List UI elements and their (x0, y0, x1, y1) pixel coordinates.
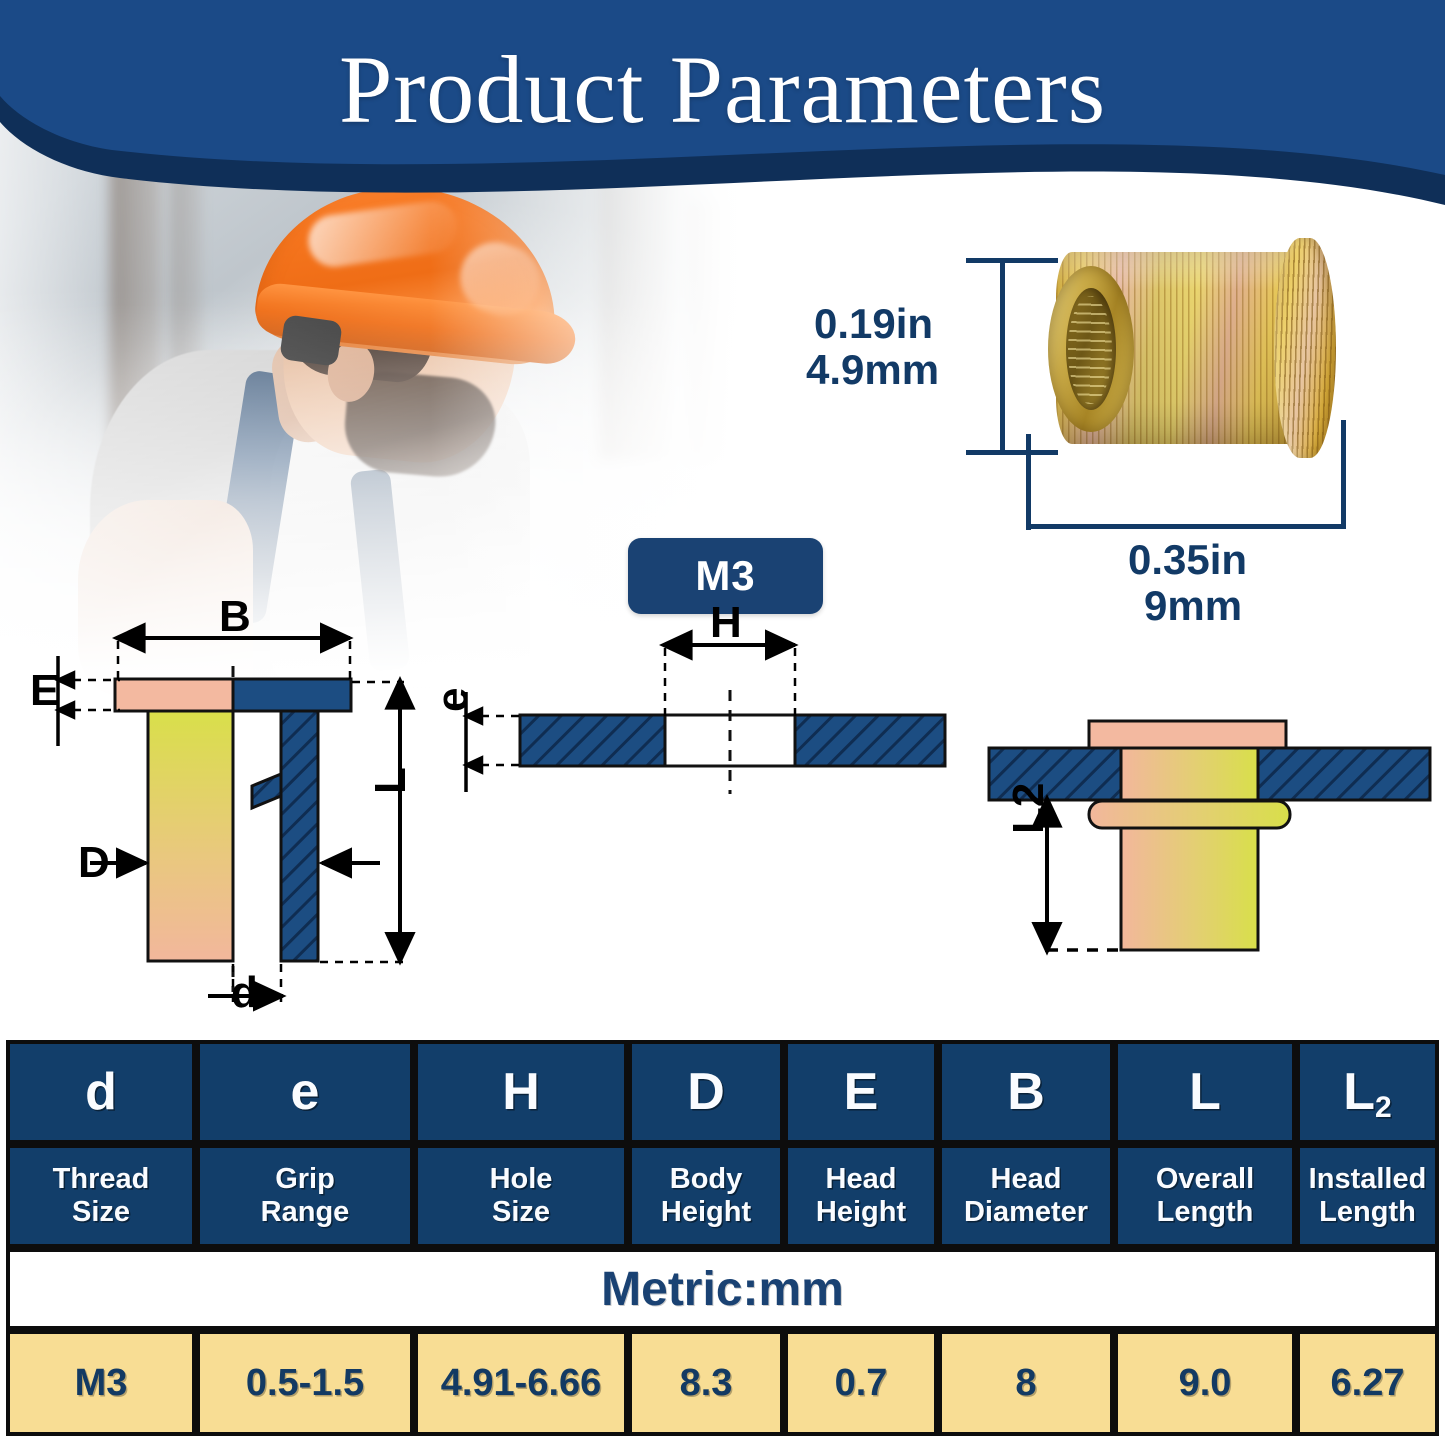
table-cell-installed-length: 6.27 (1296, 1330, 1439, 1436)
table-header-desc-installed-length: InstalledLength (1296, 1144, 1439, 1248)
header-banner: Product Parameters (0, 0, 1445, 230)
diagram-label-L: L (368, 767, 415, 794)
diagram-label-e: e (430, 688, 477, 712)
diagram-label-L2: L2 (1006, 783, 1053, 834)
table-cell-overall-length: 9.0 (1114, 1330, 1296, 1436)
table-header-desc-overall-length: OverallLength (1114, 1144, 1296, 1248)
desc-text: InstalledLength (1309, 1163, 1427, 1228)
table-header-desc-head-diameter: HeadDiameter (938, 1144, 1114, 1248)
desc-text: ThreadSize (53, 1163, 150, 1228)
table-header-desc-grip-range: GripRange (196, 1144, 414, 1248)
dim-corner-vertical (1026, 434, 1031, 530)
dim-extension-vertical (1000, 258, 1005, 455)
technical-diagrams: B E D L d H e L2 (0, 596, 1445, 1040)
table-row-descriptions: ThreadSize GripRange HoleSize BodyHeight… (6, 1144, 1439, 1248)
table-header-symbol-d: d (6, 1040, 196, 1144)
symbol-text: E (844, 1063, 879, 1121)
diagram-label-H: H (710, 600, 742, 647)
diagram-label-B: B (219, 594, 251, 641)
symbol-text: d (85, 1063, 117, 1121)
diagram-cross-section (58, 638, 404, 1002)
table-cell-head-height: 0.7 (784, 1330, 938, 1436)
symbol-subscript: 2 (1375, 1091, 1392, 1124)
table-cell-thread-size: M3 (6, 1330, 196, 1436)
table-row-symbols: d e H D E B L L2 (6, 1040, 1439, 1144)
table-cell-body-height: 8.3 (628, 1330, 784, 1436)
page-title: Product Parameters (0, 34, 1445, 145)
diagram-label-D: D (78, 840, 110, 887)
table-header-desc-hole-size: HoleSize (414, 1144, 628, 1248)
desc-text: GripRange (261, 1163, 350, 1228)
dim-extension-right (1341, 420, 1346, 528)
dim-tick-bottom (966, 450, 1058, 455)
table-header-symbol-B: B (938, 1040, 1114, 1144)
table-header-symbol-E: E (784, 1040, 938, 1144)
symbol-text: e (291, 1063, 320, 1121)
desc-text: BodyHeight (661, 1163, 751, 1228)
symbol-text: L (1189, 1063, 1221, 1121)
rivet-nut-internal-thread (1068, 296, 1112, 404)
table-cell-grip-range: 0.5-1.5 (196, 1330, 414, 1436)
diagram-label-d: d (231, 970, 258, 1017)
desc-text: HoleSize (490, 1163, 553, 1228)
table-cell-head-diameter: 8 (938, 1330, 1114, 1436)
diagram-label-E: E (30, 668, 59, 715)
desc-text: HeadDiameter (964, 1163, 1088, 1228)
table-header-symbol-e: e (196, 1040, 414, 1144)
table-row-unit: Metric:mm (6, 1248, 1439, 1330)
rivet-nut-knurled-flange (1274, 238, 1336, 458)
symbol-text: H (502, 1063, 540, 1121)
table-header-symbol-H: H (414, 1040, 628, 1144)
symbol-text: B (1007, 1063, 1045, 1121)
height-callout-metric: 4.9mm (806, 348, 939, 393)
width-callout-imperial: 0.35in (1128, 538, 1247, 583)
desc-text: OverallLength (1156, 1163, 1254, 1228)
size-badge-label: M3 (695, 552, 755, 600)
table-row-values: M3 0.5-1.5 4.91-6.66 8.3 0.7 8 9.0 6.27 (6, 1330, 1439, 1436)
table-header-symbol-L: L (1114, 1040, 1296, 1144)
table-header-symbol-D: D (628, 1040, 784, 1144)
specification-table: d e H D E B L L2 ThreadSize GripRange Ho… (6, 1040, 1439, 1436)
table-header-desc-body-height: BodyHeight (628, 1144, 784, 1248)
dim-tick-top (966, 258, 1058, 263)
dim-line-horizontal (1026, 524, 1346, 529)
table-header-symbol-L2: L2 (1296, 1040, 1439, 1144)
table-cell-hole-size: 4.91-6.66 (414, 1330, 628, 1436)
table-header-desc-head-height: HeadHeight (784, 1144, 938, 1248)
desc-text: HeadHeight (816, 1163, 906, 1228)
diagram-installed (989, 721, 1430, 952)
table-header-desc-thread-size: ThreadSize (6, 1144, 196, 1248)
diagram-plate-hole (466, 645, 945, 794)
rivet-nut-product-photo (1028, 236, 1348, 461)
symbol-text: L (1343, 1063, 1375, 1121)
table-unit-cell: Metric:mm (6, 1248, 1439, 1330)
infographic-stage: Product Parameters 0.19in 4.9mm 0.35in 9… (0, 0, 1445, 1445)
height-callout-imperial: 0.19in (814, 302, 933, 347)
symbol-text: D (687, 1063, 725, 1121)
